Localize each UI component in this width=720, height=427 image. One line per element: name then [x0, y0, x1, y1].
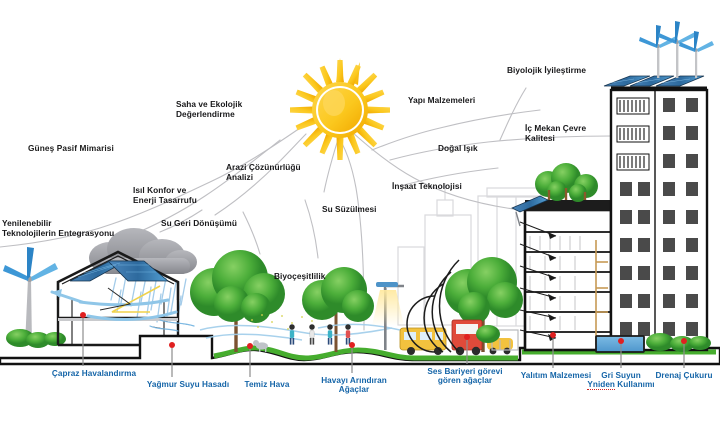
wind-turbine-icon	[3, 247, 58, 345]
label-arazi-cozunurlugu-analizi: Arazi Çözünürlüğü Analizi	[226, 163, 301, 182]
marker-dot-havayi-arindiran-agaclar	[349, 342, 355, 348]
label-temiz-hava: Temiz Hava	[236, 380, 298, 389]
label-gunes-pasif-mimarisi: Güneş Pasif Mimarisi	[28, 144, 114, 154]
label-saha-ve-ekolojik-degerlendirme: Saha ve Ekolojik Değerlendirme	[176, 100, 242, 119]
street-lamp-icon	[372, 282, 404, 350]
label-havayi-arindiran-agaclar: Havayı Arındıran Ağaçlar	[305, 376, 403, 395]
label-dogal-isik: Doğal Işık	[438, 144, 478, 154]
marker-dot-ses-bariyeri-goren-agaclar	[464, 334, 470, 340]
marker-dot-drenaj-cukuru	[681, 338, 687, 344]
label-drenaj-cukuru: Drenaj Çukuru	[647, 371, 720, 380]
label-su-geri-donusumu: Su Geri Dönüşümü	[161, 219, 237, 229]
label-insaat-teknolojisi: İnşaat Teknolojisi	[392, 182, 462, 192]
marker-dot-yagmur-suyu-hasadi	[169, 342, 175, 348]
solar-panel-icon	[604, 76, 704, 86]
wind-turbine-icon	[639, 21, 714, 78]
marker-dot-capraz-havalandirma	[80, 312, 86, 318]
label-capraz-havalandirma: Çapraz Havalandırma	[39, 369, 149, 378]
label-yapi-malzemeleri: Yapı Malzemeleri	[408, 96, 475, 106]
marker-dot-temiz-hava	[247, 343, 253, 349]
sun-icon	[290, 58, 390, 160]
label-yagmur-suyu-hasadi: Yağmur Suyu Hasadı	[136, 380, 240, 389]
water-infiltration	[200, 324, 400, 340]
airflow-arrows	[52, 292, 176, 319]
label-gri-suyun-line2-rest: Kullanımı	[615, 380, 655, 389]
label-ses-bariyeri-goren-agaclar: Ses Bariyeri görevi gören ağaçlar	[413, 367, 517, 386]
marker-dot-yalitim-malzemesi	[550, 332, 556, 338]
label-yenilenebilir-teknolojilerin-entegrasyonu: Yenilenebilir Teknolojilerin Entegrasyon…	[2, 219, 114, 238]
label-biyocesitlilik: Biyoçeşitlilik	[274, 272, 325, 282]
label-isil-konfor-ve-enerji-tasarrufu: Isıl Konfor ve Enerji Tasarrufu	[133, 186, 197, 205]
label-biyolojik-iyilestirme: Biyolojik İyileştirme	[507, 66, 586, 76]
label-gri-suyun-line1: Gri Suyun	[601, 371, 641, 380]
bus-icon	[400, 328, 446, 355]
marker-dot-gri-suyun-yniden-kullanimi	[618, 338, 624, 344]
label-gri-suyun-misspelled-word: Yniden	[587, 380, 615, 390]
label-su-suzulmesi: Su Süzülmesi	[322, 205, 377, 215]
infographic-canvas: Güneş Pasif MimarisiYenilenebilir Teknol…	[0, 0, 720, 427]
label-ic-mekan-cevre-kalitesi: İç Mekan Çevre Kalitesi	[525, 124, 586, 143]
residential-tower	[604, 21, 714, 352]
